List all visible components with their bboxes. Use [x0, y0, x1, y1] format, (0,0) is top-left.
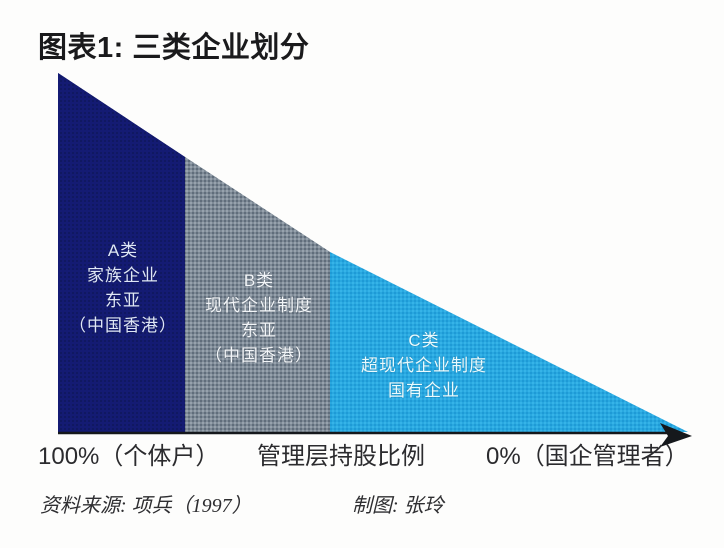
- segment-b-line1: B类: [188, 268, 330, 293]
- segment-a-label: A类 家族企业 东亚 （中国香港）: [60, 238, 186, 338]
- segment-a-line2: 家族企业: [60, 263, 186, 288]
- segment-c-line3: 国有企业: [340, 378, 508, 403]
- segment-c-label: C类 超现代企业制度 国有企业: [340, 328, 508, 403]
- segment-b-line2: 现代企业制度: [188, 293, 330, 318]
- source-note: 资料来源: 项兵（1997）: [40, 492, 252, 520]
- segment-b-label: B类 现代企业制度 东亚 （中国香港）: [188, 268, 330, 368]
- segment-c-line2: 超现代企业制度: [340, 353, 508, 378]
- segment-c-line1: C类: [340, 328, 508, 353]
- axis-caption-row: 100%（个体户） 管理层持股比例 0%（国企管理者）: [0, 442, 724, 476]
- segment-a-line1: A类: [60, 238, 186, 263]
- footer-row: 资料来源: 项兵（1997） 制图: 张玲: [0, 492, 724, 526]
- segment-a-line4: （中国香港）: [60, 313, 186, 338]
- axis-label-right: 0%（国企管理者）: [486, 442, 689, 472]
- segment-a-line3: 东亚: [60, 288, 186, 313]
- credit-note: 制图: 张玲: [352, 492, 444, 520]
- axis-label-center: 管理层持股比例: [257, 442, 425, 472]
- axis-label-left: 100%（个体户）: [38, 442, 219, 472]
- segment-b-line4: （中国香港）: [188, 343, 330, 368]
- segment-b-line3: 东亚: [188, 318, 330, 343]
